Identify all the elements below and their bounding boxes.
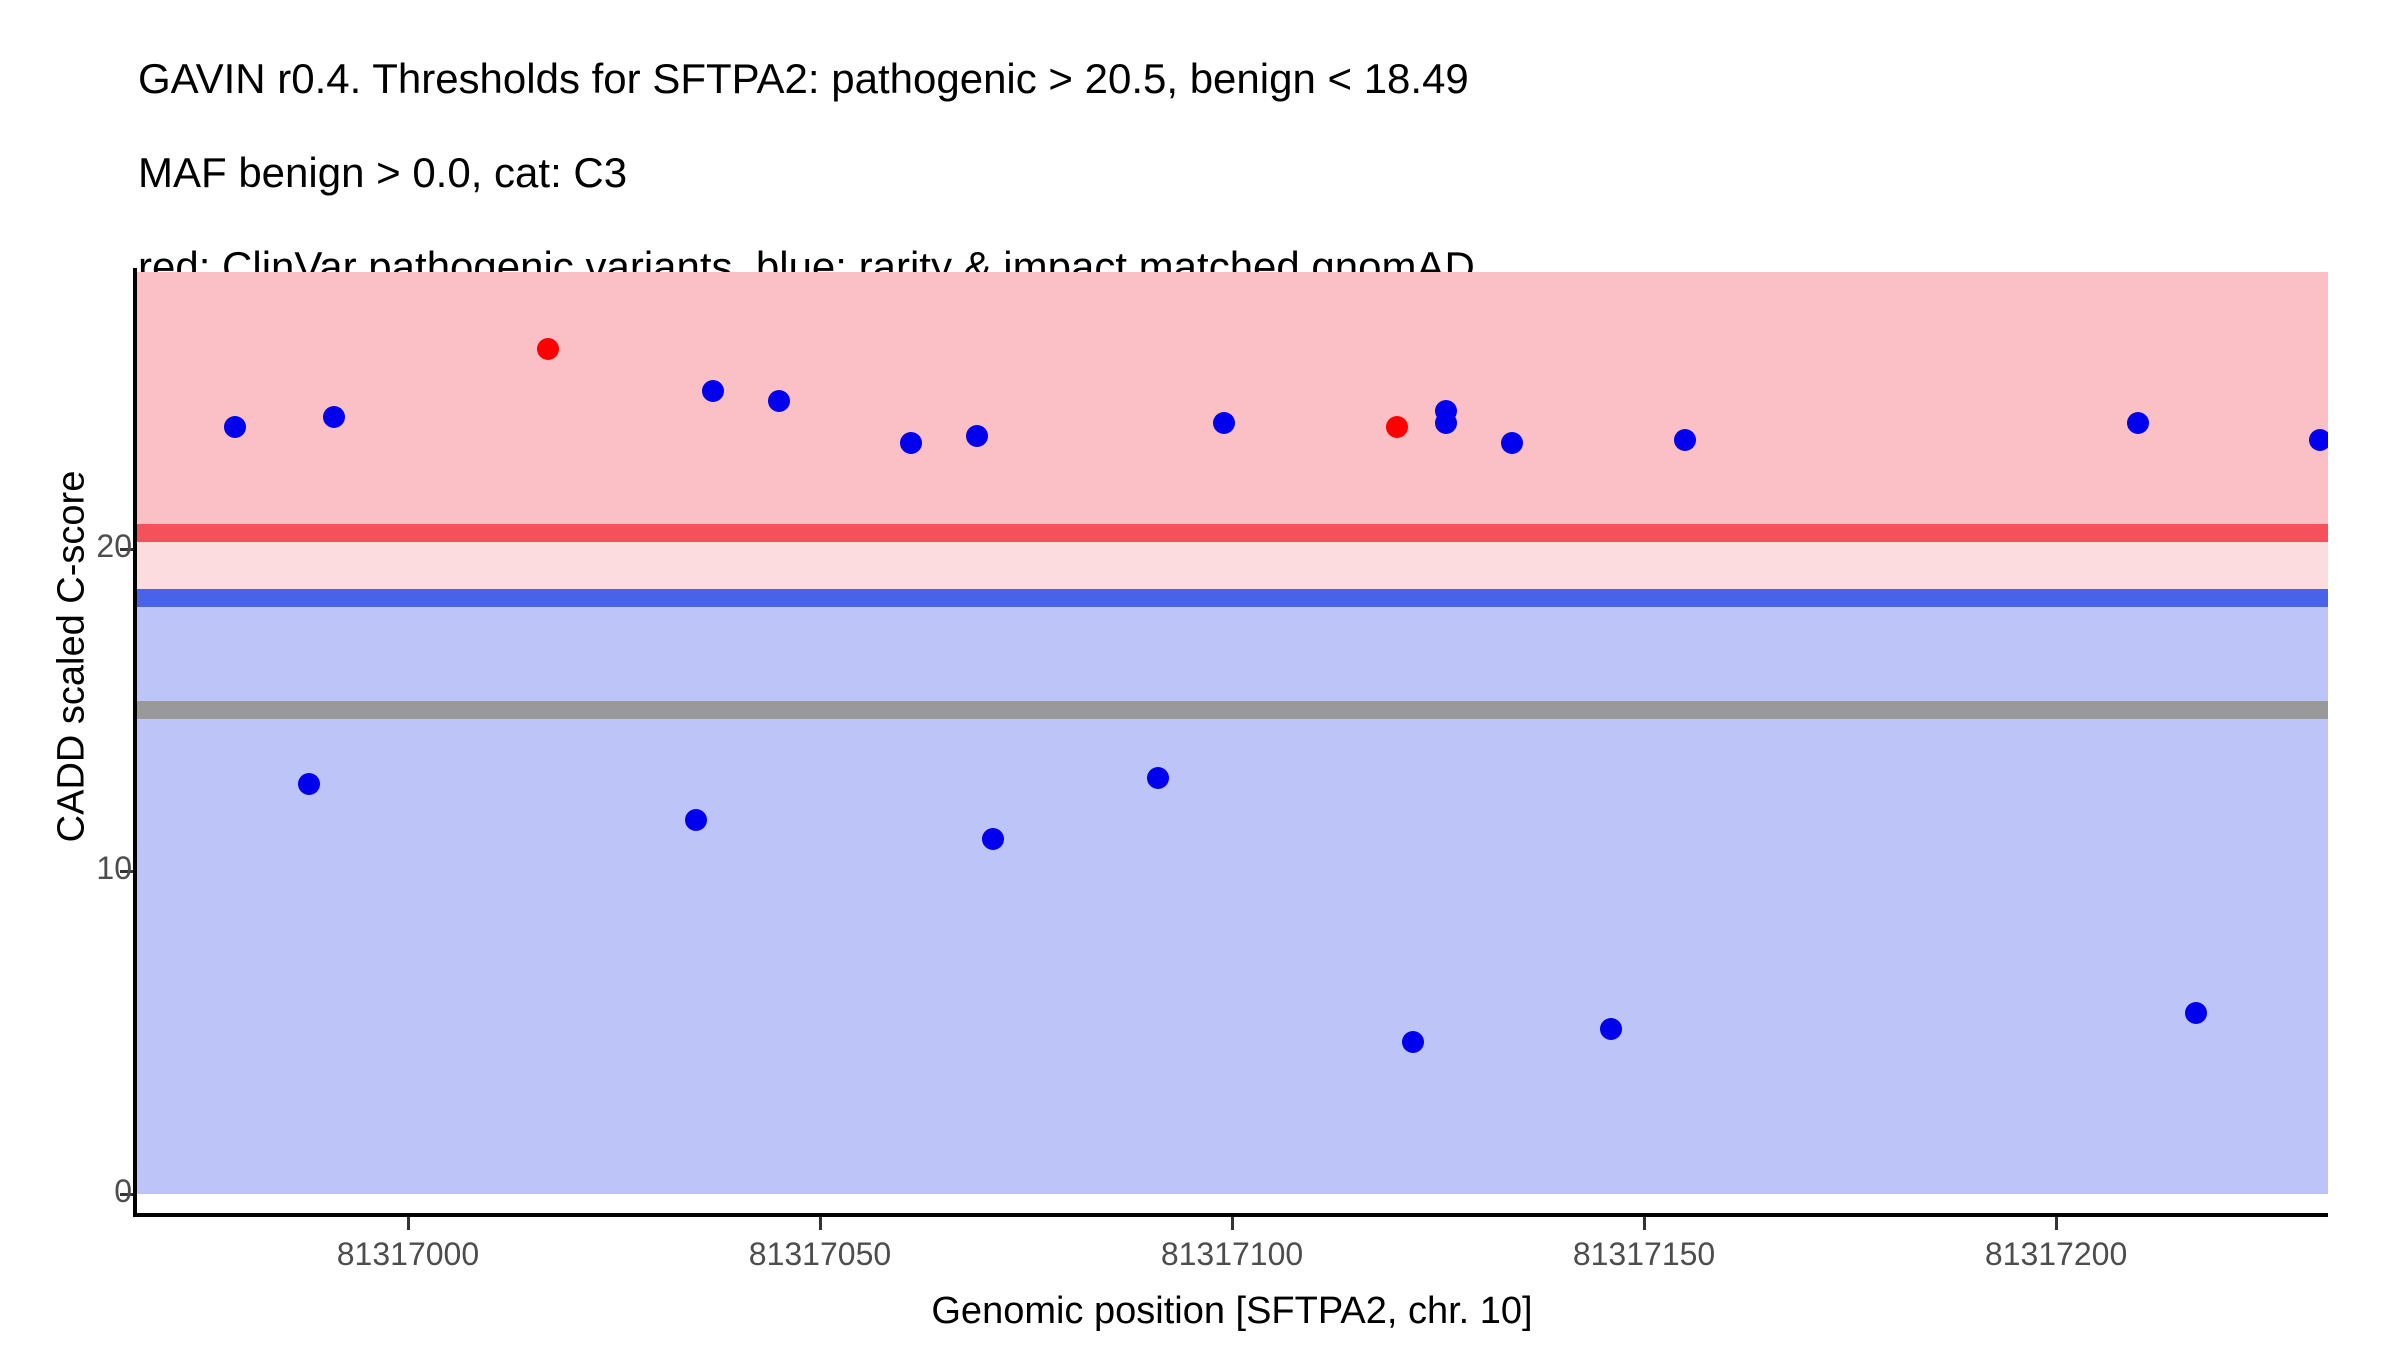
gnomad-variant-point[interactable] [702, 380, 724, 402]
y-axis-line [133, 268, 137, 1217]
plot-root: GAVIN r0.4. Thresholds for SFTPA2: patho… [0, 0, 2400, 1350]
gnomad-variant-point[interactable] [900, 432, 922, 454]
x-tick-label: 81317000 [337, 1236, 479, 1273]
x-tick-label: 81317200 [1985, 1236, 2127, 1273]
x-tick-label: 81317100 [1161, 1236, 1303, 1273]
threshold-line-genome-wide-fallback [136, 701, 2328, 719]
gnomad-variant-point[interactable] [1674, 429, 1696, 451]
gnomad-variant-point[interactable] [1501, 432, 1523, 454]
gnomad-variant-point[interactable] [224, 416, 246, 438]
gnomad-variant-point[interactable] [966, 425, 988, 447]
x-tick-label: 81317050 [749, 1236, 891, 1273]
benign-band [136, 598, 2328, 1194]
x-tick-mark [1643, 1217, 1646, 1230]
threshold-line-pathogenic [136, 524, 2328, 542]
x-axis-label: Genomic position [SFTPA2, chr. 10] [136, 1290, 2328, 1333]
x-tick-mark [819, 1217, 822, 1230]
y-tick-label: 0 [0, 1173, 154, 1210]
x-tick-mark [2055, 1217, 2058, 1230]
gnomad-variant-point[interactable] [768, 390, 790, 412]
clinvar-variant-point[interactable] [1386, 416, 1408, 438]
y-tick-label: 20 [0, 528, 154, 565]
gnomad-variant-point[interactable] [323, 406, 345, 428]
threshold-line-benign [136, 589, 2328, 607]
x-tick-label: 81317150 [1573, 1236, 1715, 1273]
x-tick-mark [407, 1217, 410, 1230]
title-line-1: GAVIN r0.4. Thresholds for SFTPA2: patho… [138, 55, 2238, 102]
gnomad-variant-point[interactable] [2309, 429, 2328, 451]
title-line-2: MAF benign > 0.0, cat: C3 [138, 149, 2238, 196]
x-tick-mark [1231, 1217, 1234, 1230]
gnomad-variant-point[interactable] [1147, 767, 1169, 789]
pathogenic-band [136, 272, 2328, 533]
plot-area [136, 272, 2328, 1213]
plot-panel [136, 272, 2328, 1213]
y-tick-label: 10 [0, 850, 154, 887]
